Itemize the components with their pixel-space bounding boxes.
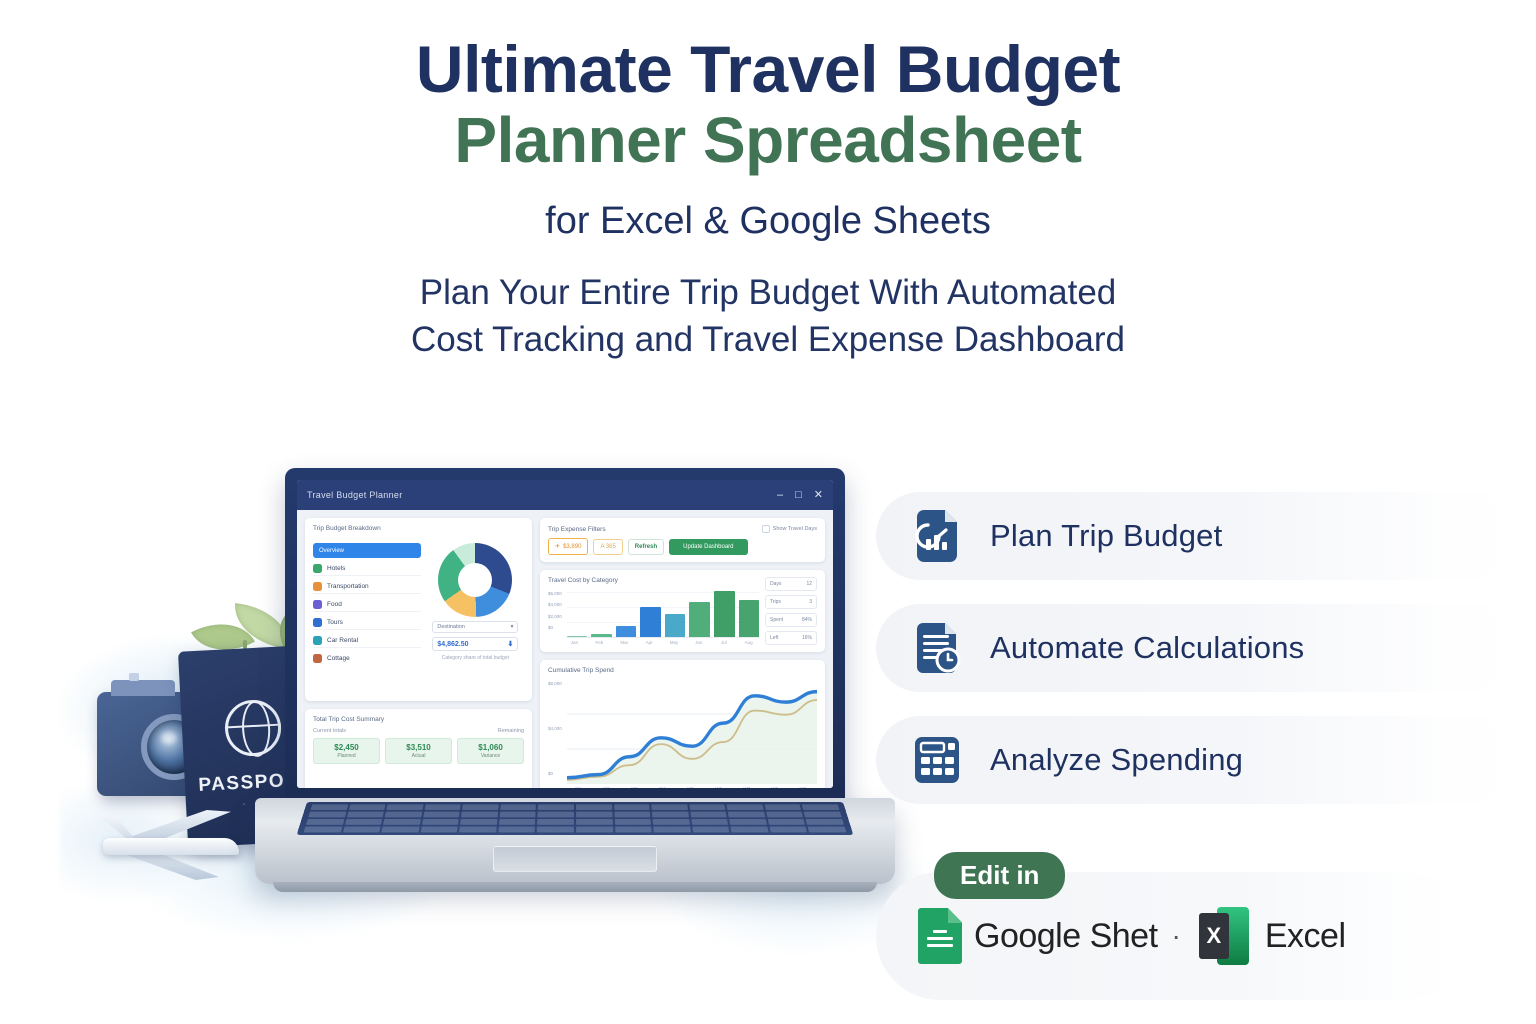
page-description: Plan Your Entire Trip Budget With Automa… — [0, 269, 1536, 364]
line-chart-yaxis: $8,000 $4,000 $0 — [548, 679, 562, 784]
kpi-value: $3,510 — [388, 743, 449, 752]
dashboard-title-bar: Travel Budget Planner – □ ✕ — [297, 480, 833, 510]
y-tick: $4,000 — [548, 602, 562, 607]
airplane-wing-top — [121, 810, 231, 840]
plane-icon: ✈ — [555, 543, 560, 550]
category-color-dot — [313, 636, 322, 645]
excel-glyph: X — [1207, 925, 1222, 947]
refresh-button[interactable]: Refresh — [628, 539, 664, 555]
keyboard-key — [308, 812, 346, 818]
amount-button-label: $3,890 — [563, 544, 581, 550]
keyboard-key — [729, 819, 767, 825]
keyboard-key — [576, 804, 612, 810]
kpi-sub-right: Remaining — [498, 728, 524, 734]
keyboard-key — [615, 826, 652, 832]
side-stat-value: 84% — [802, 617, 812, 623]
y-tick: $8,000 — [548, 681, 562, 686]
keyboard-row — [306, 819, 844, 825]
x-tick: Apr — [639, 640, 660, 645]
laptop-base — [255, 798, 895, 884]
keyboard-row — [311, 804, 840, 810]
keyboard-key — [808, 826, 846, 832]
keyboard-key — [381, 826, 419, 832]
category-label: Tours — [327, 619, 343, 626]
bar — [591, 634, 612, 637]
kpi-value: $1,060 — [460, 743, 521, 752]
laptop-screen: Travel Budget Planner – □ ✕ Trip Budget … — [297, 480, 833, 788]
checkbox-label: Show Travel Days — [773, 526, 817, 532]
page-subtitle: for Excel & Google Sheets — [0, 201, 1536, 243]
x-tick: May — [664, 640, 685, 645]
category-list: Overview Hotels Transportation — [313, 543, 421, 694]
keyboard-key — [499, 819, 536, 825]
hero-heading-block: Ultimate Travel Budget Planner Spreadshe… — [0, 0, 1536, 363]
destination-select[interactable]: Destination ▾ — [432, 621, 518, 633]
kpi-row: $2,450 Planned $3,510 Actual $1,060 Vari… — [313, 738, 524, 764]
keyboard-key — [304, 826, 342, 832]
category-color-dot — [313, 618, 322, 627]
keyboard-row — [308, 812, 841, 818]
keyboard-key — [422, 819, 459, 825]
keyboard-key — [614, 804, 650, 810]
x-tick: Mar — [614, 640, 635, 645]
keyboard-key — [651, 804, 687, 810]
kpi-label: Planned — [316, 753, 377, 759]
feature-pill-automate-calculations[interactable]: Automate Calculations — [876, 604, 1516, 692]
y-tick: $0 — [548, 771, 562, 776]
kpi-label: Actual — [388, 753, 449, 759]
update-dashboard-button[interactable]: Update Dashboard — [669, 539, 747, 555]
donut-chart-panel: Destination ▾ $4,862.50 ⬇ Category share… — [427, 543, 524, 694]
category-label: Cottage — [327, 655, 350, 662]
laptop-front-edge — [273, 882, 877, 892]
keyboard-key — [768, 819, 806, 825]
bar-chart-title: Travel Cost by Category — [548, 577, 759, 584]
line-chart-svg-wrap — [567, 679, 817, 784]
keyboard-key — [652, 812, 689, 818]
feature-label: Plan Trip Budget — [990, 518, 1222, 554]
y-tick: $2,000 — [548, 614, 562, 619]
keyboard-key — [383, 819, 421, 825]
line-chart-plot: $8,000 $4,000 $0 — [548, 679, 817, 784]
kpi-label: Variance — [460, 753, 521, 759]
list-item[interactable]: Hotels — [313, 561, 421, 576]
keyboard-key — [614, 812, 650, 818]
show-travel-days-checkbox[interactable]: Show Travel Days — [762, 525, 817, 533]
keyboard-key — [347, 812, 384, 818]
amount-button[interactable]: ✈ $3,890 — [548, 538, 588, 555]
google-sheets-icon — [918, 908, 962, 964]
keyboard-key — [576, 826, 613, 832]
x-tick: W9 — [789, 786, 817, 788]
document-clock-icon — [910, 621, 964, 675]
x-tick: W5 — [676, 786, 704, 788]
feature-pill-analyze-spending[interactable]: Analyze Spending — [876, 716, 1516, 804]
x-tick: W7 — [733, 786, 761, 788]
bar — [616, 626, 637, 637]
apps-separator: · — [1172, 920, 1181, 952]
page-description-line-2: Cost Tracking and Travel Expense Dashboa… — [0, 316, 1536, 363]
kpi-value: $2,450 — [316, 743, 377, 752]
x-tick: Feb — [589, 640, 610, 645]
side-stat-label: Left — [770, 635, 778, 641]
side-stat-value: 3 — [809, 599, 812, 605]
chevron-down-icon: ▾ — [511, 624, 514, 630]
feature-list: Plan Trip Budget Automate Calculations — [876, 492, 1516, 828]
keyboard-key — [731, 826, 769, 832]
keyboard-key — [802, 804, 839, 810]
y-tick: $0 — [548, 625, 562, 630]
side-stat: Left 16% — [765, 631, 817, 645]
filter-button-row: ✈ $3,890 A 365 Refresh Update Dashboard — [548, 538, 817, 555]
category-active-row[interactable]: Overview — [313, 543, 421, 558]
category-color-dot — [313, 654, 322, 663]
camera-flash — [129, 673, 139, 681]
dashboard-window-title: Travel Budget Planner — [307, 490, 403, 500]
keyboard-key — [806, 819, 844, 825]
filter-header: Trip Expense Filters Show Travel Days — [548, 525, 817, 533]
camera-top — [111, 680, 175, 696]
kpi-tile: $2,450 Planned — [313, 738, 380, 764]
keyboard-key — [500, 812, 536, 818]
keyboard-key — [500, 804, 536, 810]
side-stats-panel: Days 12 Trips 3 Spent 84% — [765, 577, 817, 645]
x-tick: W1 — [564, 786, 592, 788]
keyboard-key — [538, 812, 574, 818]
side-stat-label: Trips — [770, 599, 781, 605]
keyboard-key — [343, 826, 381, 832]
excel-label: Excel — [1265, 917, 1346, 956]
keyboard-row — [304, 826, 847, 832]
category-label: Hotels — [327, 565, 345, 572]
bar-chart-card: Travel Cost by Category $6,000 $4,000 $2… — [540, 570, 825, 652]
side-stat: Trips 3 — [765, 595, 817, 609]
bar-chart-yaxis: $6,000 $4,000 $2,000 $0 — [548, 589, 562, 638]
keyboard-key — [764, 804, 801, 810]
excel-icon: X — [1199, 907, 1249, 965]
line-chart-card: Cumulative Trip Spend $8,000 $4,000 $0 — [540, 660, 825, 788]
line-chart-title: Cumulative Trip Spend — [548, 667, 817, 674]
laptop-keyboard — [297, 802, 854, 835]
donut-chart — [438, 543, 512, 617]
keyboard-key — [345, 819, 383, 825]
keyboard-key — [727, 804, 764, 810]
close-icon[interactable]: ✕ — [814, 490, 823, 501]
keyboard-key — [420, 826, 458, 832]
kpi-tile: $1,060 Variance — [457, 738, 524, 764]
page-description-line-1: Plan Your Entire Trip Budget With Automa… — [0, 269, 1536, 316]
keyboard-key — [576, 812, 612, 818]
keyboard-key — [653, 819, 690, 825]
kpi-sub-left: Current totals — [313, 728, 346, 734]
bar-chart-plot: $6,000 $4,000 $2,000 $0 — [548, 589, 759, 638]
y-tick: $6,000 — [548, 591, 562, 596]
filter-card-heading: Trip Expense Filters — [548, 526, 606, 533]
list-item[interactable]: Cottage — [313, 651, 421, 666]
x-tick: Jul — [713, 640, 734, 645]
cost-summary-card: Total Trip Cost Summary Current totals R… — [305, 709, 532, 788]
keyboard-key — [385, 812, 422, 818]
x-tick: W3 — [620, 786, 648, 788]
laptop-trackpad — [493, 846, 657, 872]
list-item[interactable]: Transportation — [313, 579, 421, 594]
category-color-dot — [313, 564, 322, 573]
keyboard-key — [728, 812, 765, 818]
side-stat: Spent 84% — [765, 613, 817, 627]
page-title-line-2: Planner Spreadsheet — [0, 103, 1536, 179]
secondary-stat-button[interactable]: A 365 — [593, 539, 622, 555]
keyboard-key — [460, 819, 497, 825]
keyboard-key — [424, 804, 461, 810]
checkbox-box — [762, 525, 770, 533]
keyboard-key — [614, 819, 651, 825]
destination-select-label: Destination — [437, 624, 465, 630]
bar — [665, 614, 686, 637]
bar — [739, 600, 760, 637]
line-chart-svg — [567, 679, 817, 784]
keyboard-key — [461, 812, 498, 818]
line-chart-area — [567, 692, 817, 784]
dashboard-body: Trip Budget Breakdown Overview Hotels — [297, 510, 833, 788]
page-title-line-1: Ultimate Travel Budget — [0, 36, 1536, 103]
x-tick: Aug — [738, 640, 759, 645]
side-stat: Days 12 — [765, 577, 817, 591]
keyboard-key — [576, 819, 613, 825]
x-tick: W6 — [705, 786, 733, 788]
x-tick: W8 — [761, 786, 789, 788]
kpi-card-heading: Total Trip Cost Summary — [313, 716, 524, 723]
keyboard-key — [804, 812, 842, 818]
bar-chart-xaxis: JanFebMarAprMayJunJulAug — [548, 640, 759, 645]
line-chart-xaxis: W1W2W3W4W5W6W7W8W9 — [548, 786, 817, 788]
total-value-text: $4,862.50 — [437, 641, 468, 648]
keyboard-key — [348, 804, 385, 810]
keyboard-key — [692, 826, 730, 832]
keyboard-key — [766, 812, 803, 818]
list-item[interactable]: Car Rental — [313, 633, 421, 648]
kpi-tile: $3,510 Actual — [385, 738, 452, 764]
google-sheets-label: Google Shet — [974, 917, 1158, 956]
side-stat-value: 16% — [802, 635, 812, 641]
keyboard-key — [691, 819, 728, 825]
airplane-icon — [81, 796, 261, 886]
update-dashboard-label: Update Dashboard — [683, 544, 733, 550]
calculator-icon — [910, 733, 964, 787]
refresh-button-label: Refresh — [635, 544, 657, 550]
x-tick: Jan — [564, 640, 585, 645]
minimize-icon[interactable]: – — [777, 490, 783, 501]
category-active-label: Overview — [319, 548, 344, 554]
window-controls: – □ ✕ — [777, 490, 823, 501]
kpi-subheader: Current totals Remaining — [313, 728, 524, 734]
bar-chart-wrap: Travel Cost by Category $6,000 $4,000 $2… — [548, 577, 759, 645]
keyboard-key — [769, 826, 807, 832]
list-item[interactable]: Tours — [313, 615, 421, 630]
y-tick: $4,000 — [548, 726, 562, 731]
feature-pill-plan-trip-budget[interactable]: Plan Trip Budget — [876, 492, 1516, 580]
document-chart-icon — [910, 509, 964, 563]
keyboard-key — [537, 819, 574, 825]
laptop-lid: Travel Budget Planner – □ ✕ Trip Budget … — [285, 468, 845, 804]
download-icon[interactable]: ⬇ — [507, 640, 513, 648]
keyboard-key — [538, 804, 574, 810]
category-label: Food — [327, 601, 342, 608]
edit-in-badge: Edit in — [934, 852, 1065, 899]
laptop-mockup: Travel Budget Planner – □ ✕ Trip Budget … — [255, 468, 895, 908]
category-color-dot — [313, 582, 322, 591]
keyboard-key — [689, 804, 726, 810]
maximize-icon[interactable]: □ — [795, 490, 802, 501]
side-stat-label: Spent — [770, 617, 783, 623]
side-stat-value: 12 — [806, 581, 812, 587]
bar — [567, 636, 588, 637]
bar — [689, 602, 710, 637]
category-card-heading: Trip Budget Breakdown — [313, 525, 524, 532]
bar — [714, 591, 735, 637]
x-tick: W4 — [648, 786, 676, 788]
total-value-field: $4,862.50 ⬇ — [432, 637, 518, 651]
category-label: Car Rental — [327, 637, 358, 644]
side-stat-label: Days — [770, 581, 781, 587]
keyboard-key — [306, 819, 344, 825]
x-tick: W2 — [592, 786, 620, 788]
dashboard-right-column: Trip Expense Filters Show Travel Days ✈ … — [540, 518, 825, 788]
bar — [640, 607, 661, 637]
keyboard-key — [423, 812, 460, 818]
filter-card: Trip Expense Filters Show Travel Days ✈ … — [540, 518, 825, 562]
keyboard-key — [498, 826, 535, 832]
keyboard-key — [311, 804, 348, 810]
keyboard-key — [462, 804, 498, 810]
bar-series — [567, 589, 759, 638]
category-note: Category share of total budget — [442, 655, 509, 661]
secondary-stat-label: A 365 — [600, 544, 615, 550]
feature-label: Automate Calculations — [990, 630, 1304, 666]
keyboard-key — [459, 826, 496, 832]
feature-label: Analyze Spending — [990, 742, 1243, 778]
x-tick: Jun — [688, 640, 709, 645]
keyboard-key — [690, 812, 727, 818]
keyboard-key — [537, 826, 574, 832]
category-breakdown-card: Trip Budget Breakdown Overview Hotels — [305, 518, 532, 701]
category-color-dot — [313, 600, 322, 609]
list-item[interactable]: Food — [313, 597, 421, 612]
airplane-fuselage — [103, 838, 239, 855]
keyboard-key — [653, 826, 690, 832]
keyboard-key — [386, 804, 423, 810]
category-label: Transportation — [327, 583, 369, 590]
